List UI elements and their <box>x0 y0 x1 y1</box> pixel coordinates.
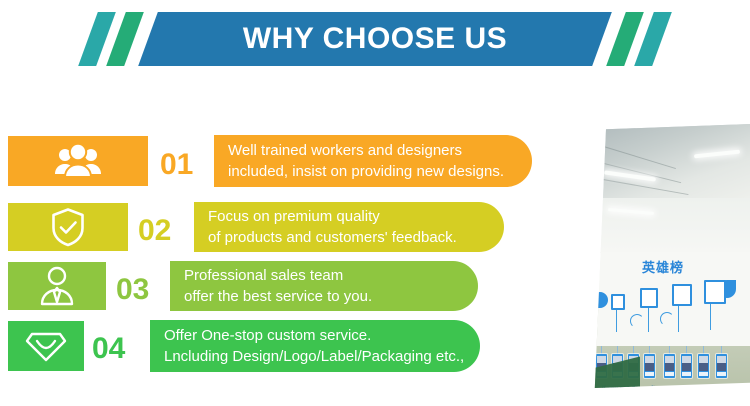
feature-text-02-line-1: Focus on premium quality <box>208 206 504 227</box>
shield-check-icon-box <box>8 203 128 251</box>
feature-number-01: 01 <box>160 150 193 180</box>
feature-number-04: 04 <box>92 334 125 364</box>
feature-number-03: 03 <box>116 275 149 305</box>
feature-text-01-line-1: Well trained workers and designers <box>228 140 532 161</box>
factory-hero-board-photo: 英雄榜 <box>590 124 750 388</box>
feature-number-02: 02 <box>138 216 171 246</box>
wall-photo-frame <box>672 284 692 306</box>
people-group-icon-box <box>8 136 148 186</box>
feature-text-02-line-2: of products and customers' feedback. <box>208 227 504 248</box>
shield-check-icon <box>50 207 86 247</box>
feature-text-04-line-2: Lncluding Design/Logo/Label/Packaging et… <box>164 346 480 367</box>
photo-display-wall: 英雄榜 <box>590 252 750 346</box>
feature-text-02: Focus on premium quality of products and… <box>194 202 504 252</box>
photo-ceiling <box>590 124 750 198</box>
photo-upper-wall <box>590 198 750 253</box>
feature-text-01: Well trained workers and designers inclu… <box>214 135 532 187</box>
businessman-icon-box <box>8 262 106 310</box>
header-banner: WHY CHOOSE US <box>0 0 750 72</box>
people-group-icon <box>55 144 101 178</box>
diamond-gem-icon <box>25 328 67 364</box>
feature-text-04-line-1: Offer One-stop custom service. <box>164 325 480 346</box>
wall-decoration-icon <box>592 292 608 308</box>
feature-text-03-line-1: Professional sales team <box>184 265 478 286</box>
wall-photo-frame <box>704 280 726 304</box>
wall-photo-frame <box>640 288 658 308</box>
page-title: WHY CHOOSE US <box>148 12 602 66</box>
wall-photo-frame <box>611 294 625 310</box>
wall-heading-text: 英雄榜 <box>642 257 684 276</box>
diamond-gem-icon-box <box>8 321 84 371</box>
feature-text-03-line-2: offer the best service to you. <box>184 286 478 307</box>
feature-text-03: Professional sales team offer the best s… <box>170 261 478 311</box>
feature-text-01-line-2: included, insist on providing new design… <box>228 161 532 182</box>
feature-text-04: Offer One-stop custom service. Lncluding… <box>150 320 480 372</box>
why-choose-us-banner: WHY CHOOSE US 01 Well trained workers an… <box>0 0 750 406</box>
businessman-icon <box>39 266 75 306</box>
photo-inner: 英雄榜 <box>590 124 750 388</box>
